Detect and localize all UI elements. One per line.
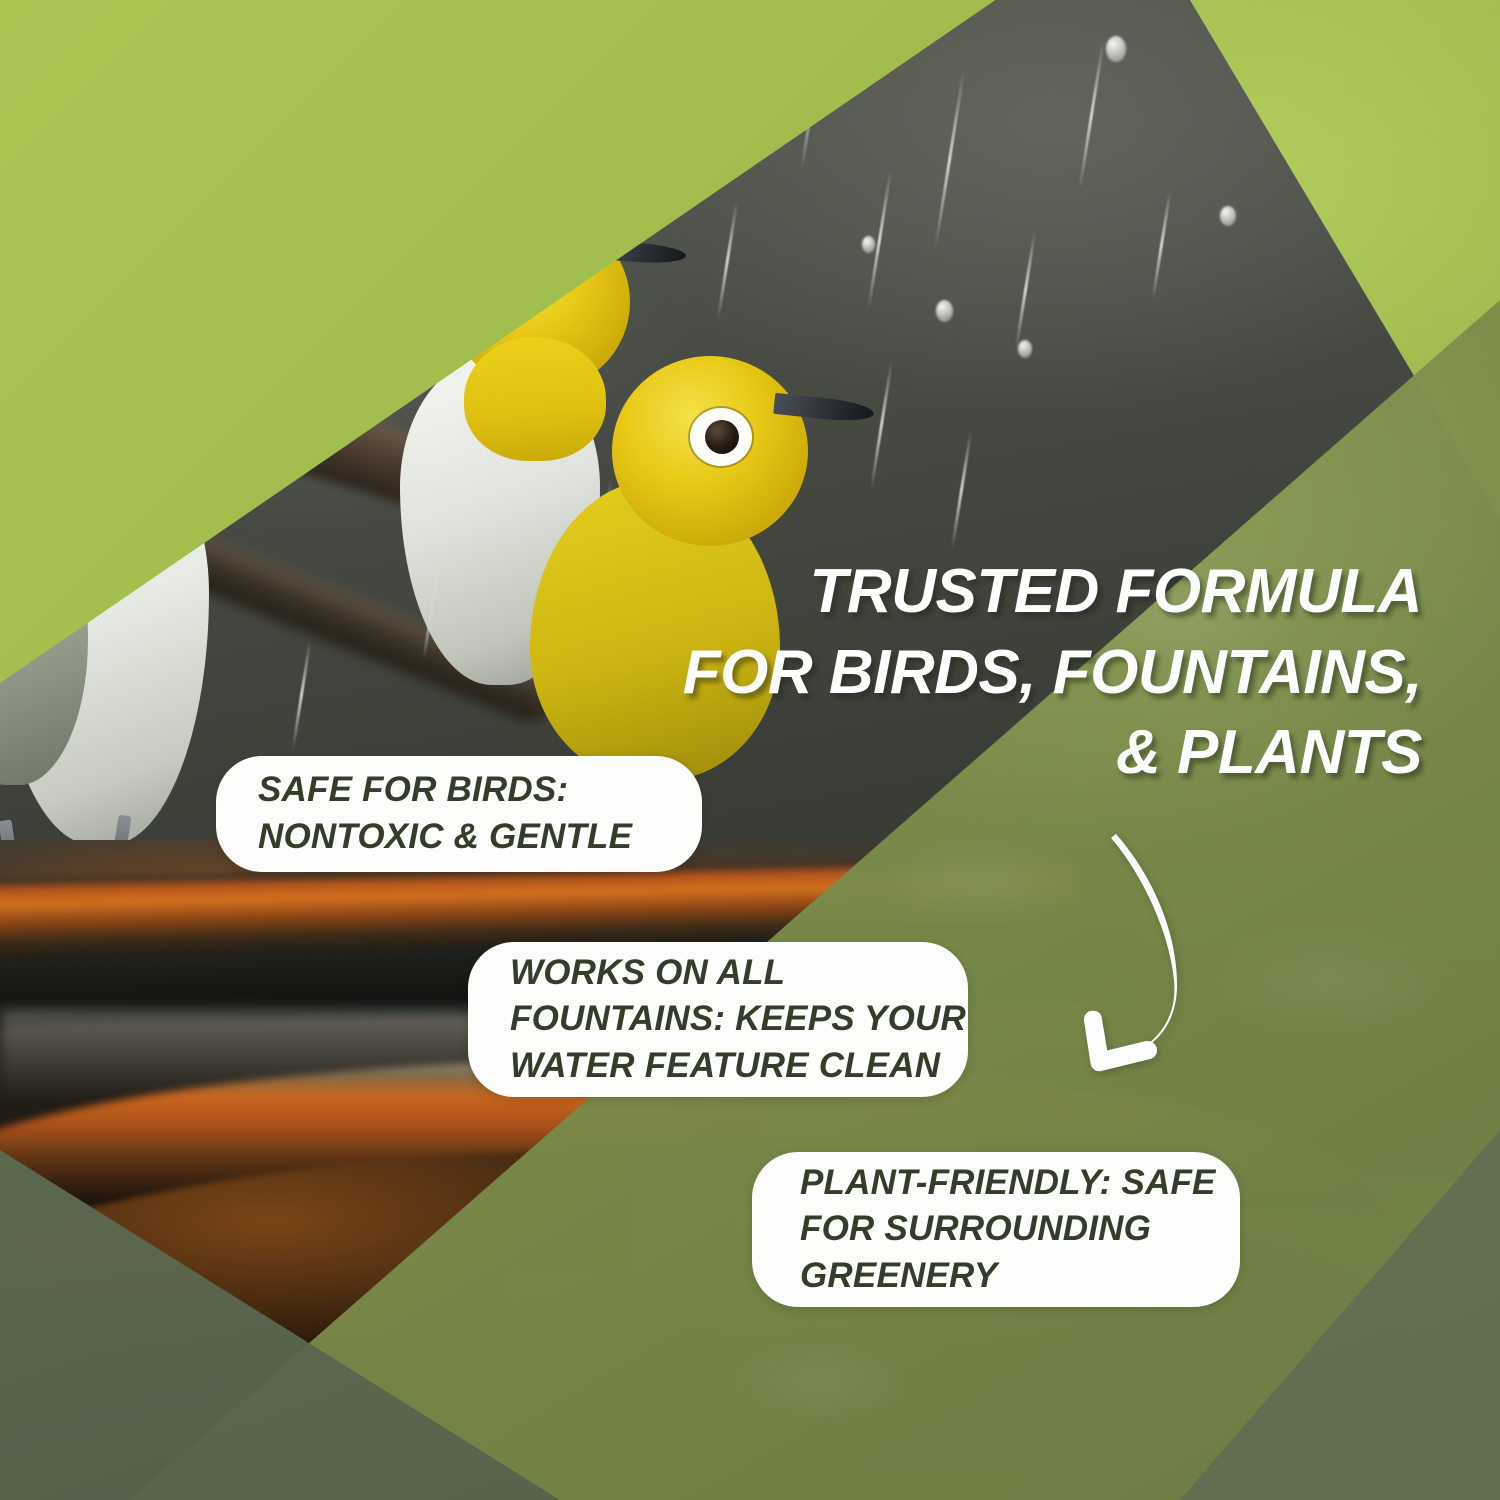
- infographic-canvas: TRUSTED FORMULA FOR BIRDS, FOUNTAINS, & …: [0, 0, 1500, 1500]
- headline: TRUSTED FORMULA FOR BIRDS, FOUNTAINS, & …: [662, 552, 1422, 794]
- headline-line-3: & PLANTS: [662, 713, 1422, 794]
- callout-badge-safe-for-birds-text: SAFE FOR BIRDS: NONTOXIC & GENTLE: [258, 767, 632, 860]
- bird-right-pupil: [705, 420, 739, 454]
- callout-badge-plant-friendly-text: PLANT-FRIENDLY: SAFE FOR SURROUNDING GRE…: [800, 1160, 1216, 1300]
- callout-badge-works-on-all-fountains-text: WORKS ON ALL FOUNTAINS: KEEPS YOUR WATER…: [510, 950, 966, 1090]
- callout-badge-works-on-all-fountains[interactable]: WORKS ON ALL FOUNTAINS: KEEPS YOUR WATER…: [468, 942, 968, 1097]
- curved-down-arrow-icon: [1064, 812, 1284, 1082]
- callout-badge-plant-friendly[interactable]: PLANT-FRIENDLY: SAFE FOR SURROUNDING GRE…: [752, 1152, 1240, 1307]
- headline-line-1: TRUSTED FORMULA: [662, 552, 1422, 633]
- callout-badge-safe-for-birds[interactable]: SAFE FOR BIRDS: NONTOXIC & GENTLE: [216, 756, 702, 872]
- headline-line-2: FOR BIRDS, FOUNTAINS,: [662, 633, 1422, 714]
